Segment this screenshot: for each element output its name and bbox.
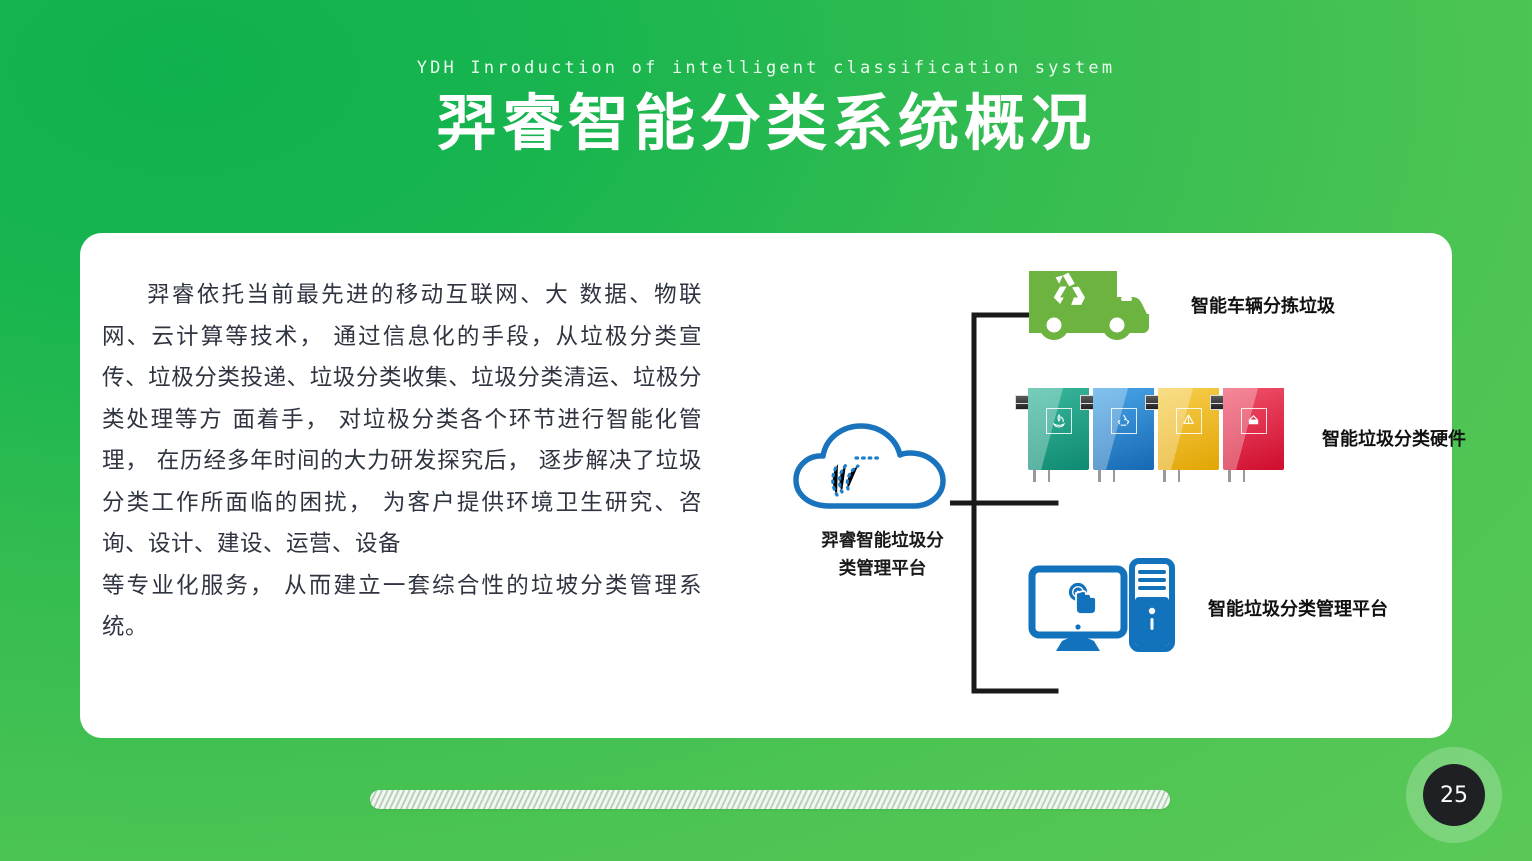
branch-truck: 智能车辆分拣垃圾 [1025, 263, 1335, 346]
branch-truck-label: 智能车辆分拣垃圾 [1191, 292, 1335, 318]
bin-symbol-leaf [1176, 408, 1202, 434]
branch-bins: 厨余垃圾 可回收物 [1028, 388, 1466, 488]
bottom-decorative-bar [370, 790, 1170, 809]
page-number-badge: 25 [1406, 747, 1502, 843]
desktop-computer-icon [1028, 555, 1178, 660]
slide-eyebrow: YDH Inroduction of intelligent classific… [0, 58, 1532, 78]
branch-bins-label: 智能垃圾分类硬件 [1322, 425, 1466, 451]
bin-symbol-food [1046, 408, 1072, 434]
cloud-icon [790, 503, 975, 520]
cloud-platform-label-line-1: 羿睿智能垃圾分 [790, 527, 975, 555]
slide-background: YDH Inroduction of intelligent classific… [0, 0, 1532, 861]
bin-symbol-recycle [1111, 408, 1137, 434]
overview-paragraph-line-1: 羿睿依托当前最先进的移动互联网、大 数据、物联网、云计算等技术， 通过信息化的手… [102, 275, 702, 566]
branch-platform: 智能垃圾分类管理平台 [1028, 555, 1388, 660]
cloud-platform-label: 羿睿智能垃圾分 类管理平台 [790, 527, 975, 583]
overview-paragraph-line-2: 等专业化服务， 从而建立一套综合性的垃坡分类管理系统。 [102, 566, 702, 649]
content-card: 羿睿依托当前最先进的移动互联网、大 数据、物联网、云计算等技术， 通过信息化的手… [80, 233, 1452, 738]
bin-body [1223, 388, 1284, 470]
branch-platform-label: 智能垃圾分类管理平台 [1208, 595, 1388, 621]
recycling-truck-icon [1025, 263, 1149, 346]
cloud-platform-label-line-2: 类管理平台 [790, 555, 975, 583]
cloud-platform-node: 羿睿智能垃圾分 类管理平台 [790, 418, 975, 583]
trash-bin-hazardous: 有害垃圾 [1223, 388, 1284, 488]
architecture-diagram: 羿睿智能垃圾分 类管理平台 [680, 233, 1452, 738]
bin-symbol-battery [1241, 408, 1267, 434]
page-number-value: 25 [1423, 764, 1485, 826]
page-title: 羿睿智能分类系统概况 [0, 88, 1532, 160]
overview-paragraph: 羿睿依托当前最先进的移动互联网、大 数据、物联网、云计算等技术， 通过信息化的手… [102, 275, 702, 649]
smart-trash-bins-icon: 厨余垃圾 可回收物 [1028, 388, 1284, 488]
